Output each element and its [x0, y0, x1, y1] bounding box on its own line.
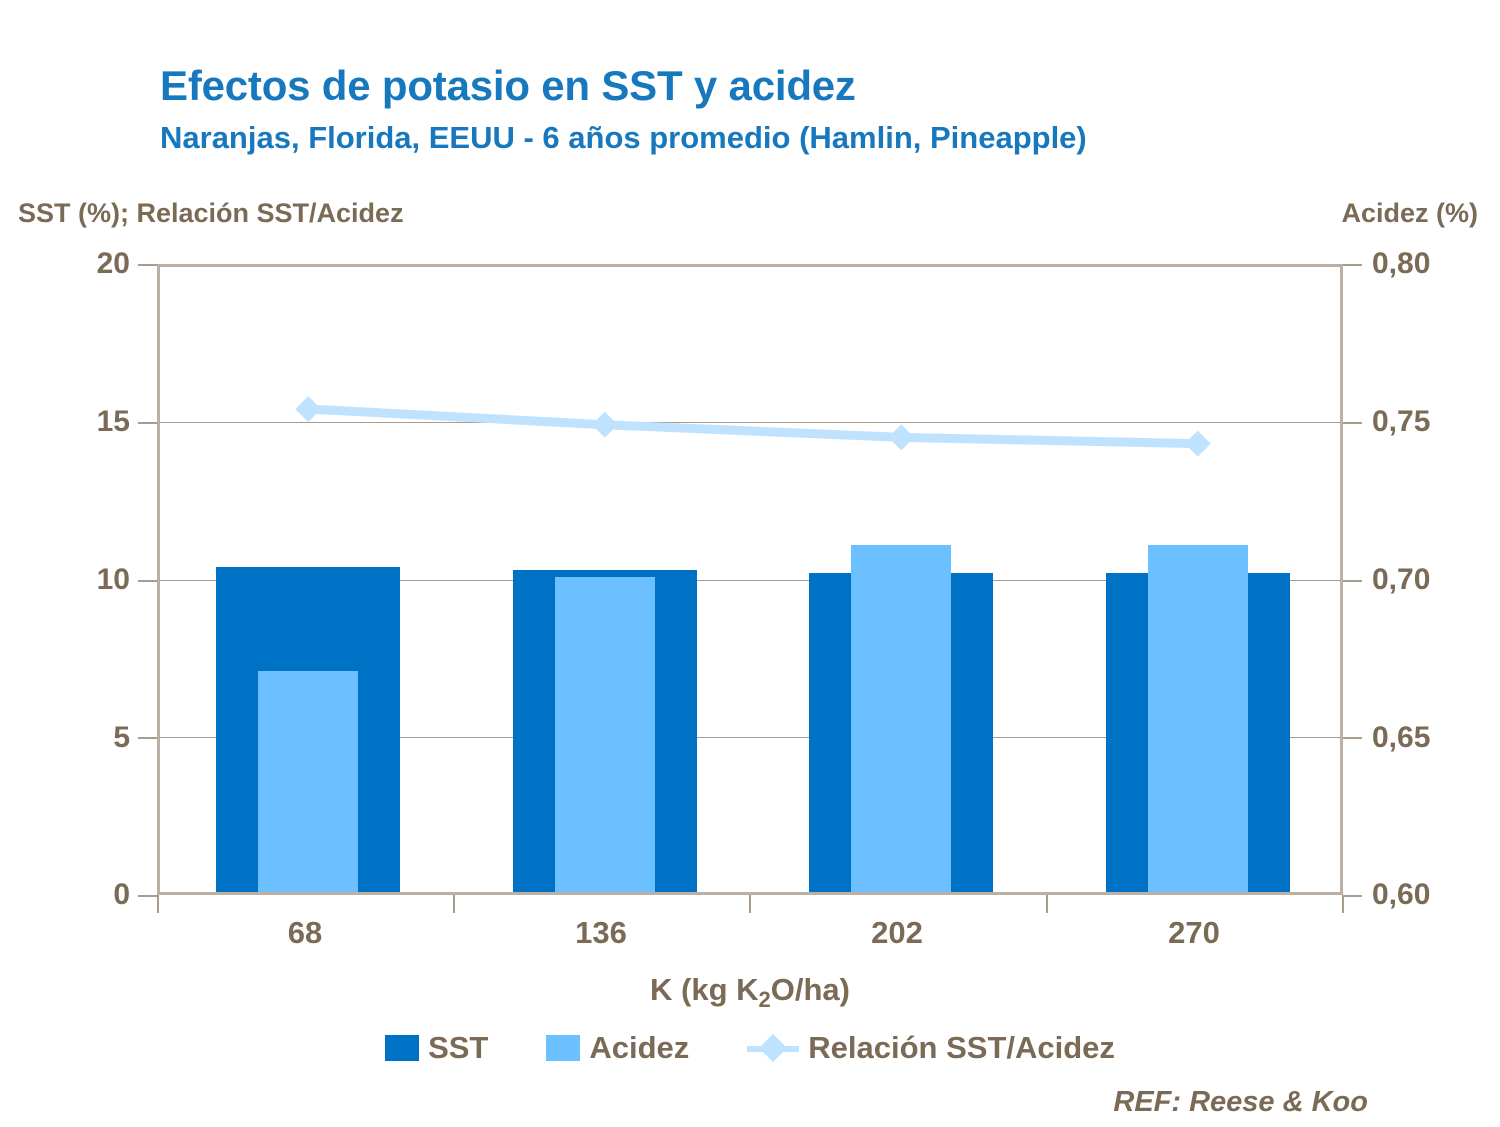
- legend-item-acidez[interactable]: Acidez: [546, 1030, 689, 1066]
- xtick-label-136: 136: [501, 915, 701, 951]
- ytick-left-0: 0: [10, 878, 130, 912]
- tick-mark-left-10: [138, 580, 157, 582]
- right-axis-title: Acidez (%): [1341, 198, 1478, 229]
- legend-label-acidez: Acidez: [589, 1030, 689, 1066]
- legend-item-sst[interactable]: SST: [385, 1030, 488, 1066]
- ytick-right-060: 0,60: [1372, 878, 1500, 912]
- bar-acidez-136: [555, 577, 655, 893]
- xtick-label-202: 202: [797, 915, 997, 951]
- page-title: Efectos de potasio en SST y acidez: [160, 62, 856, 110]
- tick-mark-left-15: [138, 422, 157, 424]
- bar-acidez-202: [851, 545, 951, 892]
- plot-area: [157, 264, 1343, 895]
- ytick-right-075: 0,75: [1372, 405, 1500, 439]
- xaxis-title: K (kg K2O/ha): [0, 972, 1500, 1013]
- bar-acidez-270: [1148, 545, 1248, 892]
- tick-mark-left-5: [138, 737, 157, 739]
- ytick-left-20: 20: [10, 247, 130, 281]
- ratio-marker-202: [888, 424, 914, 450]
- gridline-15: [160, 422, 1340, 423]
- ytick-left-10: 10: [10, 563, 130, 597]
- ratio-marker-68: [295, 396, 321, 422]
- xtick-label-270: 270: [1094, 915, 1294, 951]
- page-subtitle: Naranjas, Florida, EEUU - 6 años promedi…: [160, 120, 1087, 156]
- xaxis-title-suffix: O/ha): [771, 972, 850, 1007]
- tick-mark-left-20: [138, 264, 157, 266]
- chart-legend: SST Acidez Relación SST/Acidez: [0, 1030, 1500, 1066]
- ytick-left-5: 5: [10, 721, 130, 755]
- xtick-divider-3: [1046, 895, 1048, 913]
- ratio-line-path: [308, 409, 1198, 444]
- xtick-divider-0: [157, 895, 159, 913]
- tick-mark-right-075: [1343, 422, 1362, 424]
- tick-mark-right-065: [1343, 737, 1362, 739]
- legend-label-relacion: Relación SST/Acidez: [808, 1030, 1115, 1066]
- legend-label-sst: SST: [428, 1030, 488, 1066]
- xtick-divider-4: [1342, 895, 1344, 913]
- legend-line-diamond-icon: [747, 1035, 799, 1061]
- legend-swatch-acidez-icon: [546, 1035, 580, 1061]
- ratio-marker-270: [1185, 431, 1211, 457]
- left-axis-title: SST (%); Relación SST/Acidez: [18, 198, 404, 229]
- reference-note: REF: Reese & Koo: [1113, 1086, 1368, 1119]
- tick-mark-right-060: [1343, 895, 1362, 897]
- legend-item-relacion[interactable]: Relación SST/Acidez: [747, 1030, 1115, 1066]
- xtick-divider-2: [749, 895, 751, 913]
- ytick-right-080: 0,80: [1372, 247, 1500, 281]
- legend-swatch-sst-icon: [385, 1035, 419, 1061]
- tick-mark-left-0: [138, 895, 157, 897]
- xtick-label-68: 68: [205, 915, 405, 951]
- xaxis-title-prefix: K (kg K: [650, 972, 759, 1007]
- tick-mark-right-070: [1343, 580, 1362, 582]
- ytick-left-15: 15: [10, 405, 130, 439]
- xaxis-title-subscript: 2: [759, 987, 771, 1012]
- ratio-marker-136: [592, 412, 618, 438]
- bar-acidez-68: [258, 671, 358, 892]
- xtick-divider-1: [453, 895, 455, 913]
- ytick-right-070: 0,70: [1372, 563, 1500, 597]
- ytick-right-065: 0,65: [1372, 721, 1500, 755]
- tick-mark-right-080: [1343, 264, 1362, 266]
